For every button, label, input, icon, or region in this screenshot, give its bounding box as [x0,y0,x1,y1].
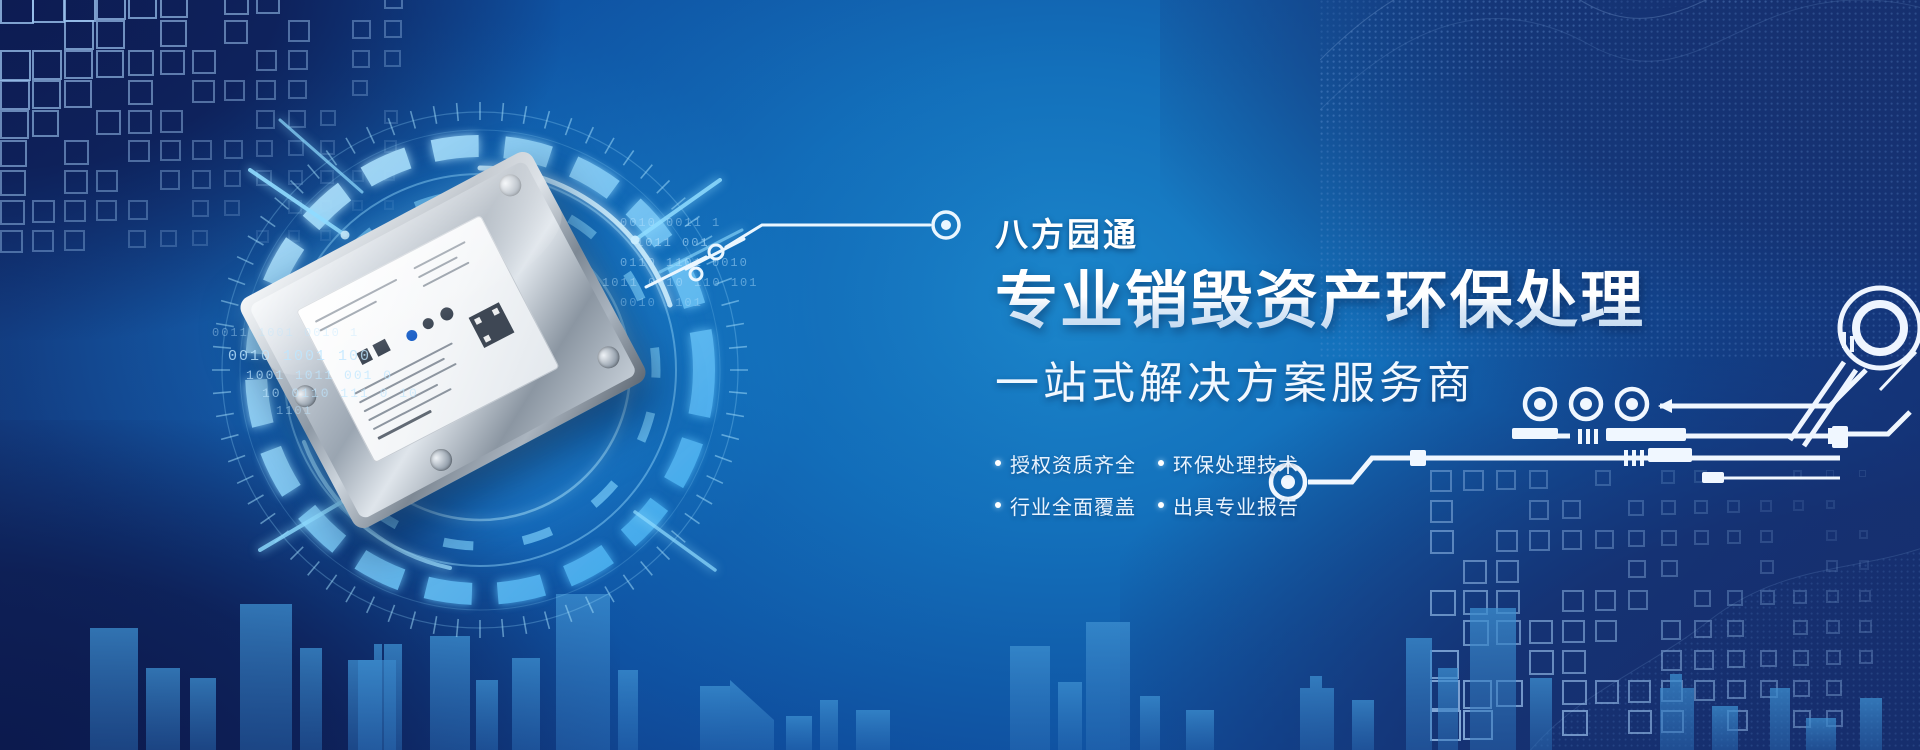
banner-copy: 八方园通 专业销毁资产环保处理 一站式解决方案服务商 授权资质齐全 环保处理技术… [995,218,1695,520]
hdd-tech-ring-artwork: 0011 1001 0010 1 0010 1001 100 1001 1011… [150,90,810,650]
feature-label: 授权资质齐全 [1010,449,1136,478]
connector-line [640,195,1000,315]
connector-node-icon [690,268,702,280]
bullet-dot-icon [1158,460,1164,466]
feature-label: 行业全面覆盖 [1010,491,1136,520]
feature-label: 出具专业报告 [1173,491,1299,520]
feature-item: 行业全面覆盖 [995,491,1136,520]
feature-list: 授权资质齐全 环保处理技术 行业全面覆盖 出具专业报告 [995,449,1299,520]
feature-item: 环保处理技术 [1158,449,1299,478]
feature-label: 环保处理技术 [1173,449,1299,478]
bullet-dot-icon [995,460,1001,466]
headline: 专业销毁资产环保处理 [995,269,1695,335]
hero-banner: 0011 1001 0010 1 0010 1001 100 1001 1011… [0,0,1920,750]
circuit-far-node-icon [1760,270,1920,450]
feature-item: 出具专业报告 [1158,491,1299,520]
feature-item: 授权资质齐全 [995,449,1136,478]
bullet-dot-icon [995,502,1001,508]
bullet-dot-icon [1158,502,1164,508]
brand-name: 八方园通 [995,218,1695,251]
subheadline: 一站式解决方案服务商 [995,347,1695,411]
